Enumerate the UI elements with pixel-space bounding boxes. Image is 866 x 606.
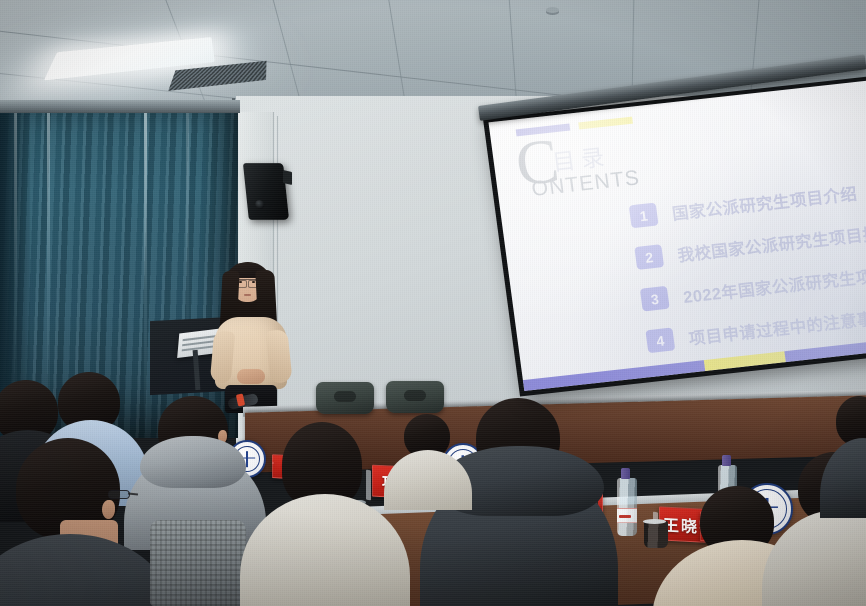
presenter-eye-right — [252, 281, 255, 283]
water-bottle — [617, 478, 637, 536]
eyeglasses — [108, 490, 130, 499]
toc-item-label: 我校国家公派研究生项目执行情况 — [676, 214, 866, 266]
presenter-mouth — [244, 294, 251, 296]
presentation-room-photo: C 目录 ONTENTS 1 国家公派研究生项目介绍 2 我校国家公派研究生项目… — [0, 0, 866, 606]
smoke-detector-icon — [546, 7, 559, 13]
chair-mesh-back — [150, 520, 246, 606]
toc-item-label: 项目申请过程中的注意事项 — [687, 303, 866, 349]
toc-item-label: 国家公派研究生项目介绍 — [670, 180, 858, 224]
jacket-hood — [140, 436, 246, 488]
speaker-bracket — [283, 170, 292, 185]
paper-cup — [644, 521, 668, 548]
toc-number-badge: 2 — [634, 244, 664, 270]
presentation-slide: C 目录 ONTENTS 1 国家公派研究生项目介绍 2 我校国家公派研究生项目… — [489, 80, 866, 391]
slide-title: C 目录 ONTENTS — [513, 126, 641, 202]
projection-screen: C 目录 ONTENTS 1 国家公派研究生项目介绍 2 我校国家公派研究生项目… — [483, 76, 866, 397]
presenter-arm-right — [265, 329, 292, 384]
toc-number-badge: 1 — [629, 203, 659, 229]
presenter — [209, 257, 295, 407]
ear — [102, 500, 115, 519]
toc-item-label: 2022年国家公派研究生项目申请 — [682, 257, 866, 307]
chair — [316, 382, 374, 414]
placard-stand — [366, 470, 371, 501]
bottle-label — [617, 508, 637, 523]
toc-item: 1 国家公派研究生项目介绍 — [629, 172, 866, 229]
toc-number-badge: 4 — [645, 327, 675, 353]
toc-number-badge: 3 — [640, 286, 670, 312]
presenter-hands — [237, 369, 265, 384]
chair — [386, 381, 444, 413]
curtain-rail — [0, 100, 240, 113]
name-placard-partial — [272, 462, 274, 464]
presenter-eye-left — [239, 281, 242, 283]
